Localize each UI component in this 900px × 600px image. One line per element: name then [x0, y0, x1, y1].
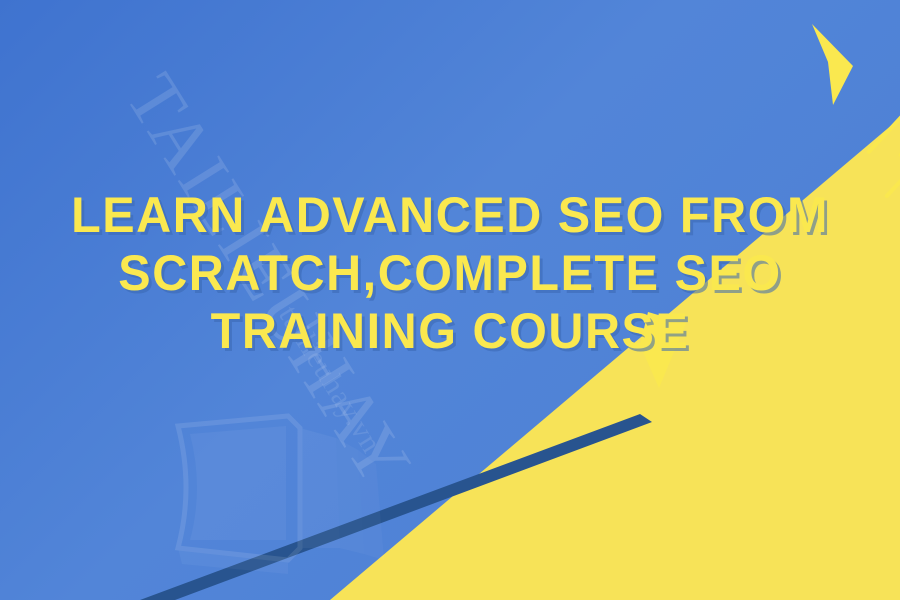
streak-line-icon [866, 108, 900, 155]
headline-line-1: LEARN ADVANCED SEO FROM [14, 186, 887, 244]
page-title: LEARN ADVANCED SEO FROM SCRATCH,COMPLETE… [0, 186, 900, 360]
course-banner: TAILIEUHAY tailieuhay.vn LEARN ADVANCED … [0, 0, 900, 600]
open-book-icon [168, 398, 398, 598]
headline-line-2: SCRATCH,COMPLETE SEO [14, 244, 887, 302]
headline-line-3: TRAINING COURSE [14, 302, 887, 360]
